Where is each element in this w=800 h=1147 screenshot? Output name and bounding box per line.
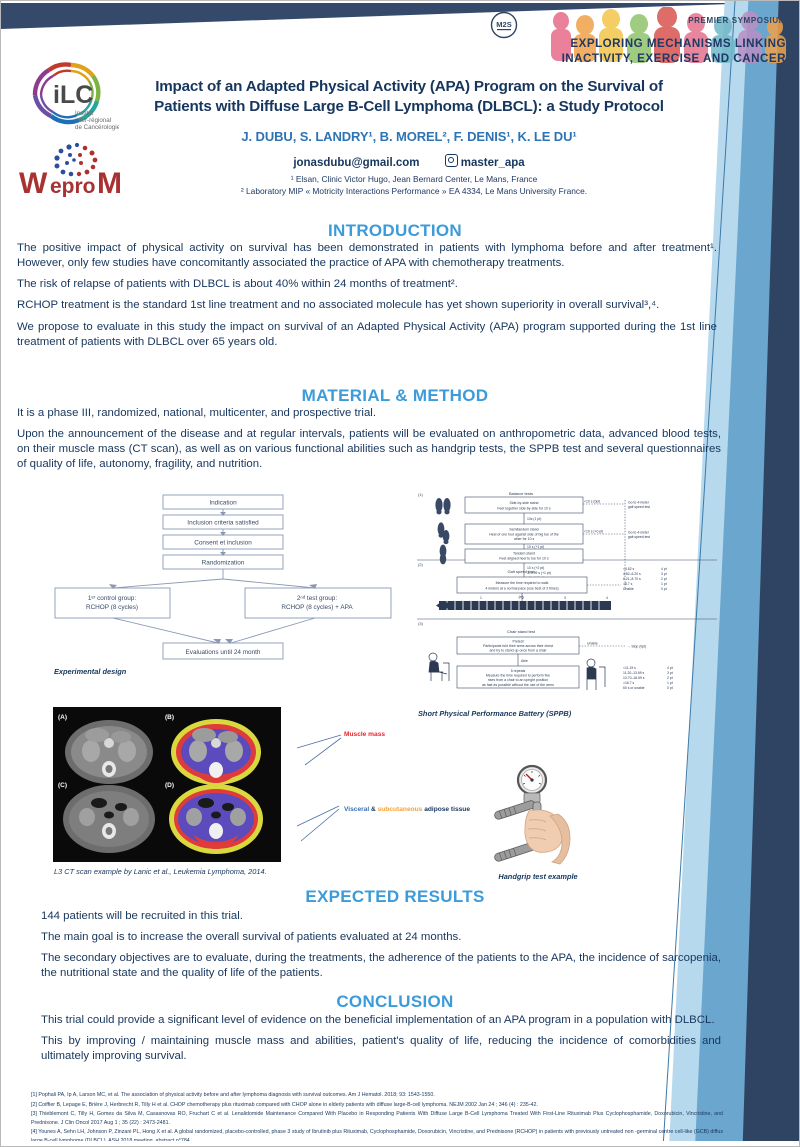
symposium-kicker-text: PREMIER SYMPOSIUM: [688, 16, 786, 25]
sppb-gait-title: Gait speed test: [508, 569, 536, 574]
contact-line: jonasdubu@gmail.com master_apa: [129, 154, 689, 169]
section-body-conclusion: This trial could provide a significant l…: [41, 1013, 721, 1064]
sppb-branch-1: <10 s (0pt): [584, 500, 600, 504]
sppb-chair-pretest-l2: Participants fold their arms across thei…: [483, 644, 553, 648]
ct-panel-label-d: (D): [165, 782, 174, 789]
sppb-gait-tick-2: 2: [522, 596, 524, 600]
sppb-gait-tick-4: 4: [606, 596, 608, 600]
ct-label-ampersand: &: [371, 806, 376, 813]
seated-person-icon: [429, 653, 449, 681]
sppb-box2-line3: other for 10 s: [514, 537, 535, 541]
sppb-gait-tick-3: 3: [564, 596, 566, 600]
symposium-banner: M2S PREMIER SYMPOSIUM EXPLORING MECHANIS…: [489, 7, 789, 79]
section-heading-material-method: MATERIAL & METHOD: [15, 386, 775, 406]
ct-panel-label-a: (A): [58, 714, 67, 721]
section-heading-conclusion: CONCLUSION: [15, 992, 775, 1012]
sppb-goto-2b: gait speed test: [628, 535, 650, 539]
reference-3: [3] Thieblemont C, Tilly H, Gomes da Sil…: [31, 1110, 723, 1127]
flow-node-1-text: Indication: [209, 499, 237, 506]
flow-arm-left-line1: 1ᵉʳ control group:: [88, 595, 137, 602]
instagram-icon: [445, 154, 458, 167]
sppb-chair-pt-2: 3 pt: [667, 671, 673, 675]
svg-text:Institut: Institut: [75, 110, 94, 117]
ct-label-subcutaneous: subcutaneous: [378, 806, 423, 813]
flow-arm-right-line1: 2ⁿᵈ test group:: [297, 595, 337, 602]
ct-panel-d: [169, 784, 263, 854]
sppb-gait-pt-2: 3 pt: [661, 572, 667, 576]
symposium-line1-text: EXPLORING MECHANISMS LINKING: [570, 37, 786, 50]
sppb-chair-pt-5: 0 pt: [667, 686, 673, 690]
svg-text:de Cancérologie: de Cancérologie: [75, 124, 119, 131]
sppb-gait-score-5: Unable: [623, 587, 634, 591]
flow-final-node-text: Evaluations until 24 month: [186, 649, 261, 656]
sppb-goto-2a: Go to 4-meter: [628, 531, 650, 535]
flow-arm-left-line2: RCHOP (8 cycles): [86, 604, 138, 611]
m2s-badge-text: M2S: [496, 20, 511, 29]
section-body-introduction: The positive impact of physical activity…: [17, 241, 717, 350]
symposium-line2-text: INACTIVITY, EXERCISE AND CANCER: [562, 52, 787, 65]
sppb-chair-title: Chair stand test: [507, 629, 536, 634]
intro-paragraph-2: The risk of relapse of patients with DLB…: [17, 277, 717, 292]
intro-paragraph-4: We propose to evaluate in this study the…: [17, 320, 717, 350]
sppb-chair-score-4: >16.7 s: [623, 681, 635, 685]
sppb-goto-1a: Go to 4-meter: [628, 501, 650, 505]
flow-node-4-text: Randomization: [202, 559, 245, 566]
sppb-chair-score-1: <11.19 s: [623, 666, 636, 670]
experimental-design-flowchart: Indication Inclusion criteria satisfied …: [53, 493, 393, 663]
conclusion-paragraph-2: This by improving / maintaining muscle m…: [41, 1034, 721, 1064]
sppb-balance-title: Balance tests: [509, 491, 533, 496]
weprom-m-text: M: [97, 167, 122, 197]
ct-panel-label-b: (B): [165, 714, 174, 721]
poster-canvas: iLC Institut inter-régional de Cancérolo…: [0, 0, 800, 1147]
sppb-gait-box-line2: 4 meters at a normal pace (use best of 2…: [485, 587, 558, 591]
ilc-acronym-text: iLC: [53, 81, 93, 109]
page-title: Impact of an Adapted Physical Activity (…: [129, 77, 689, 117]
sppb-chair-5rep-l2: Measure the time required to perform fiv…: [486, 674, 550, 678]
sppb-chair-5rep-l1: 5 repeats: [511, 669, 526, 673]
sppb-box3-line1: Tandem stand: [513, 552, 535, 556]
intro-paragraph-1: The positive impact of physical activity…: [17, 241, 717, 271]
affiliation-2: ² Laboratory MIP « Motricity Interaction…: [129, 185, 699, 197]
affiliations: ¹ Elsan, Clinic Victor Hugo, Jean Bernar…: [129, 173, 699, 197]
sppb-chair-unable: Unable: [587, 642, 598, 646]
sppb-box3-line2: Feet aligned heel to toe for 10 s: [499, 557, 548, 561]
sppb-chair-pt-3: 2 pt: [667, 676, 673, 680]
conclusion-paragraph-1: This trial could provide a significant l…: [41, 1013, 721, 1028]
section-body-expected-results: 144 patients will be recruited in this t…: [41, 909, 721, 982]
ct-label-muscle-mass: Muscle mass: [344, 731, 385, 738]
ct-panel-c: [63, 785, 155, 853]
sppb-box1-line1: Side-by-side stand: [510, 501, 539, 505]
section-heading-introduction: INTRODUCTION: [15, 221, 775, 241]
author-list: J. DUBU, S. LANDRY¹, B. MOREL², F. DENIS…: [129, 129, 689, 144]
weprom-logo: W epro M: [17, 141, 129, 197]
handgrip-caption: Handgrip test example: [488, 872, 588, 881]
ilc-logo: iLC Institut inter-régional de Cancérolo…: [23, 49, 119, 135]
flow-arm-right-line2: RCHOP (8 cycles) + APA: [281, 604, 353, 611]
poster-header: iLC Institut inter-régional de Cancérolo…: [1, 1, 800, 206]
sppb-chair-pretest-l3: and try to stand up once from a chair: [489, 649, 547, 653]
sppb-gait-pt-4: 1 pt: [661, 582, 667, 586]
ct-panel-a: [65, 720, 153, 784]
sppb-gait-pt-1: 4 pt: [661, 567, 667, 571]
weprom-mid-text: epro: [50, 175, 96, 197]
svg-text:inter-régional: inter-régional: [75, 117, 111, 124]
ct-label-adipose-group: Visceral & subcutaneous adipose tissue: [344, 806, 470, 813]
sppb-chair-5rep-l4: as fast as possible without the use of t…: [482, 683, 554, 687]
ct-panel-label-c: (C): [58, 782, 67, 789]
sppb-gait-pt-5: 0 pt: [661, 587, 667, 591]
sppb-chair-score-3: 13.70–16.69 s: [623, 676, 645, 680]
ct-scan-figure: (A) (B) (C) (D): [53, 707, 281, 862]
ct-label-visceral: Visceral: [344, 806, 369, 813]
flowchart-caption: Experimental design: [54, 667, 126, 676]
standing-person-icon: [587, 659, 605, 690]
sppb-ruler-graphic: [436, 601, 611, 610]
sppb-chair-5rep-l3: rises from a chair to an upright positio…: [488, 678, 548, 682]
reference-2: [2] Coiffier B, Lepage E, Brière J, Herb…: [31, 1101, 723, 1110]
results-paragraph-3: The secondary objectives are to evaluate…: [41, 951, 721, 981]
sppb-box2-line2: Heel of one foot against side of big toe…: [489, 532, 559, 536]
instagram-handle: master_apa: [445, 154, 525, 169]
handgrip-figure: [488, 764, 576, 872]
results-paragraph-1: 144 patients will be recruited in this t…: [41, 909, 721, 924]
email-text: jonasdubu@gmail.com: [293, 157, 419, 169]
references-list: [1] Pophali PA, Ip A, Larson MC, et al. …: [31, 1091, 723, 1146]
section-heading-expected-results: EXPECTED RESULTS: [15, 887, 775, 907]
sppb-caption: Short Physical Performance Battery (SPPB…: [418, 709, 571, 718]
instagram-handle-text: master_apa: [461, 157, 525, 169]
sppb-branch-3: <10 s (+0 pt): [584, 530, 603, 534]
sppb-chair-able: Able: [521, 659, 528, 663]
sppb-branch-2: 10s (1 pt): [527, 517, 541, 521]
sppb-goto-1b: gait speed test: [628, 505, 650, 509]
sppb-diagram: (1) (2) (3) Balance tests Side-by-side: [417, 491, 717, 706]
sppb-chair-stop: → Stop (0pt): [627, 645, 646, 649]
sppb-chair-score-5: 60 s or unable: [623, 686, 645, 690]
flow-node-3-text: Consent et inclusion: [194, 539, 252, 546]
sppb-panel-label-3: (3): [418, 621, 424, 626]
results-paragraph-2: The main goal is to increase the overall…: [41, 930, 721, 945]
sppb-gait-box-line1: Measure the time required to walk: [496, 581, 549, 585]
ct-caption: L3 CT scan example by Lanic et al., Leuk…: [54, 867, 267, 876]
weprom-w-text: W: [19, 167, 48, 197]
sppb-gait-pt-3: 2 pt: [661, 577, 667, 581]
sppb-gait-tick-1: 1: [480, 596, 482, 600]
sppb-branch-4: 10 s (+1 pt): [527, 545, 544, 549]
flow-node-2-text: Inclusion criteria satisfied: [187, 519, 259, 526]
reference-4: [4] Younes A, Sehn LH, Johnson P, Zinzan…: [31, 1128, 723, 1145]
sppb-chair-pt-4: 1 pt: [667, 681, 673, 685]
reference-1: [1] Pophali PA, Ip A, Larson MC, et al. …: [31, 1091, 723, 1100]
ct-label-adipose-tissue: adipose tissue: [424, 806, 470, 813]
sppb-chair-pretest-l1: Pretest: [512, 640, 523, 644]
sppb-gait-score-1: <4.82 s: [623, 567, 635, 571]
sppb-gait-score-2: 4.82–6.20 s: [623, 572, 641, 576]
sppb-panel-label-2: (2): [418, 562, 424, 567]
sppb-gait-score-3: 6.21–8.70 s: [623, 577, 641, 581]
sppb-gait-score-4: >8.7 s: [623, 582, 633, 586]
method-paragraph-2: Upon the announcement of the disease and…: [17, 427, 721, 472]
ct-panel-b: [171, 719, 261, 785]
method-paragraph-1: It is a phase III, randomized, national,…: [17, 406, 721, 421]
intro-paragraph-3: RCHOP treatment is the standard 1st line…: [17, 298, 717, 313]
sppb-chair-score-2: 11.20–13.69 s: [623, 671, 645, 675]
sppb-panel-label-1: (1): [418, 492, 424, 497]
sppb-box1-line2: Feet together side-by-side for 10 s: [497, 506, 551, 510]
section-body-material-method: It is a phase III, randomized, national,…: [17, 406, 721, 473]
sppb-box2-line1: Semitandem stand: [509, 528, 538, 532]
affiliation-1: ¹ Elsan, Clinic Victor Hugo, Jean Bernar…: [129, 173, 699, 185]
sppb-chair-pt-1: 4 pt: [667, 666, 673, 670]
